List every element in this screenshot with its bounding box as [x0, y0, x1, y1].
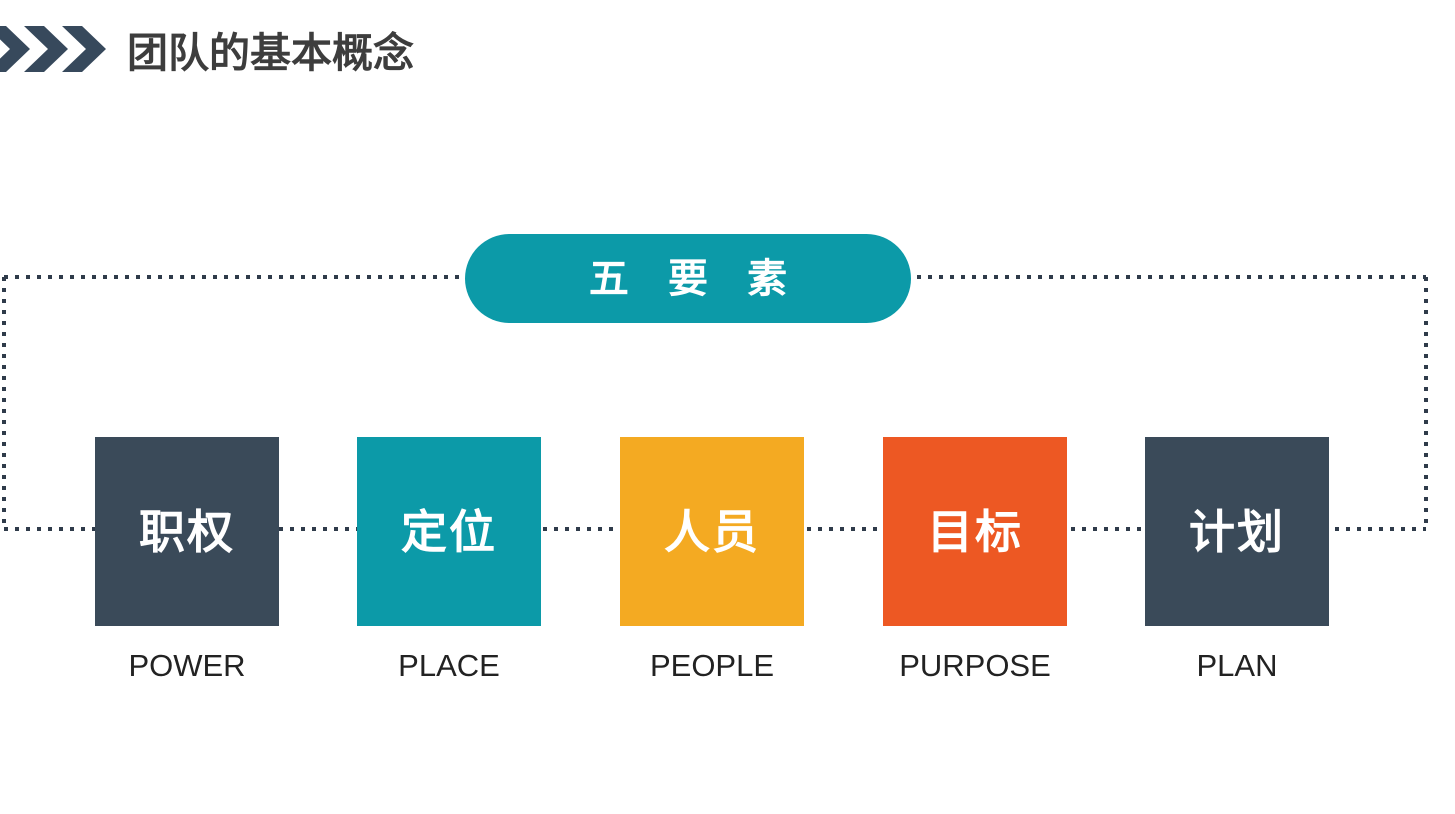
element-people[interactable]: 人员 PEOPLE: [620, 437, 804, 684]
element-box-people[interactable]: 人员: [620, 437, 804, 626]
element-box-power[interactable]: 职权: [95, 437, 279, 626]
chevron-right-triple-svg: [0, 24, 106, 74]
element-box-purpose[interactable]: 目标: [883, 437, 1067, 626]
chevron-right-triple-icon: [0, 24, 106, 74]
element-cn-label: 计划: [1189, 509, 1285, 555]
slide-header: 团队的基本概念: [0, 0, 1455, 110]
element-cn-label: 定位: [401, 509, 497, 555]
element-caption: POWER: [95, 648, 279, 684]
element-power[interactable]: 职权 POWER: [95, 437, 279, 684]
element-cn-label: 职权: [139, 509, 235, 555]
page-title: 团队的基本概念: [127, 26, 414, 80]
element-caption: PEOPLE: [620, 648, 804, 684]
element-caption: PLAN: [1145, 648, 1329, 684]
element-caption: PURPOSE: [883, 648, 1067, 684]
element-box-place[interactable]: 定位: [357, 437, 541, 626]
elements-row: 职权 POWER 定位 PLACE 人员 PEOPLE 目标 PURPOSE 计…: [0, 437, 1455, 697]
element-box-plan[interactable]: 计划: [1145, 437, 1329, 626]
element-purpose[interactable]: 目标 PURPOSE: [883, 437, 1067, 684]
element-caption: PLACE: [357, 648, 541, 684]
element-place[interactable]: 定位 PLACE: [357, 437, 541, 684]
element-plan[interactable]: 计划 PLAN: [1145, 437, 1329, 684]
element-cn-label: 人员: [664, 509, 760, 555]
hub-pill: 五 要 素: [465, 234, 911, 323]
element-cn-label: 目标: [927, 509, 1023, 555]
hub-pill-label: 五 要 素: [575, 259, 801, 299]
